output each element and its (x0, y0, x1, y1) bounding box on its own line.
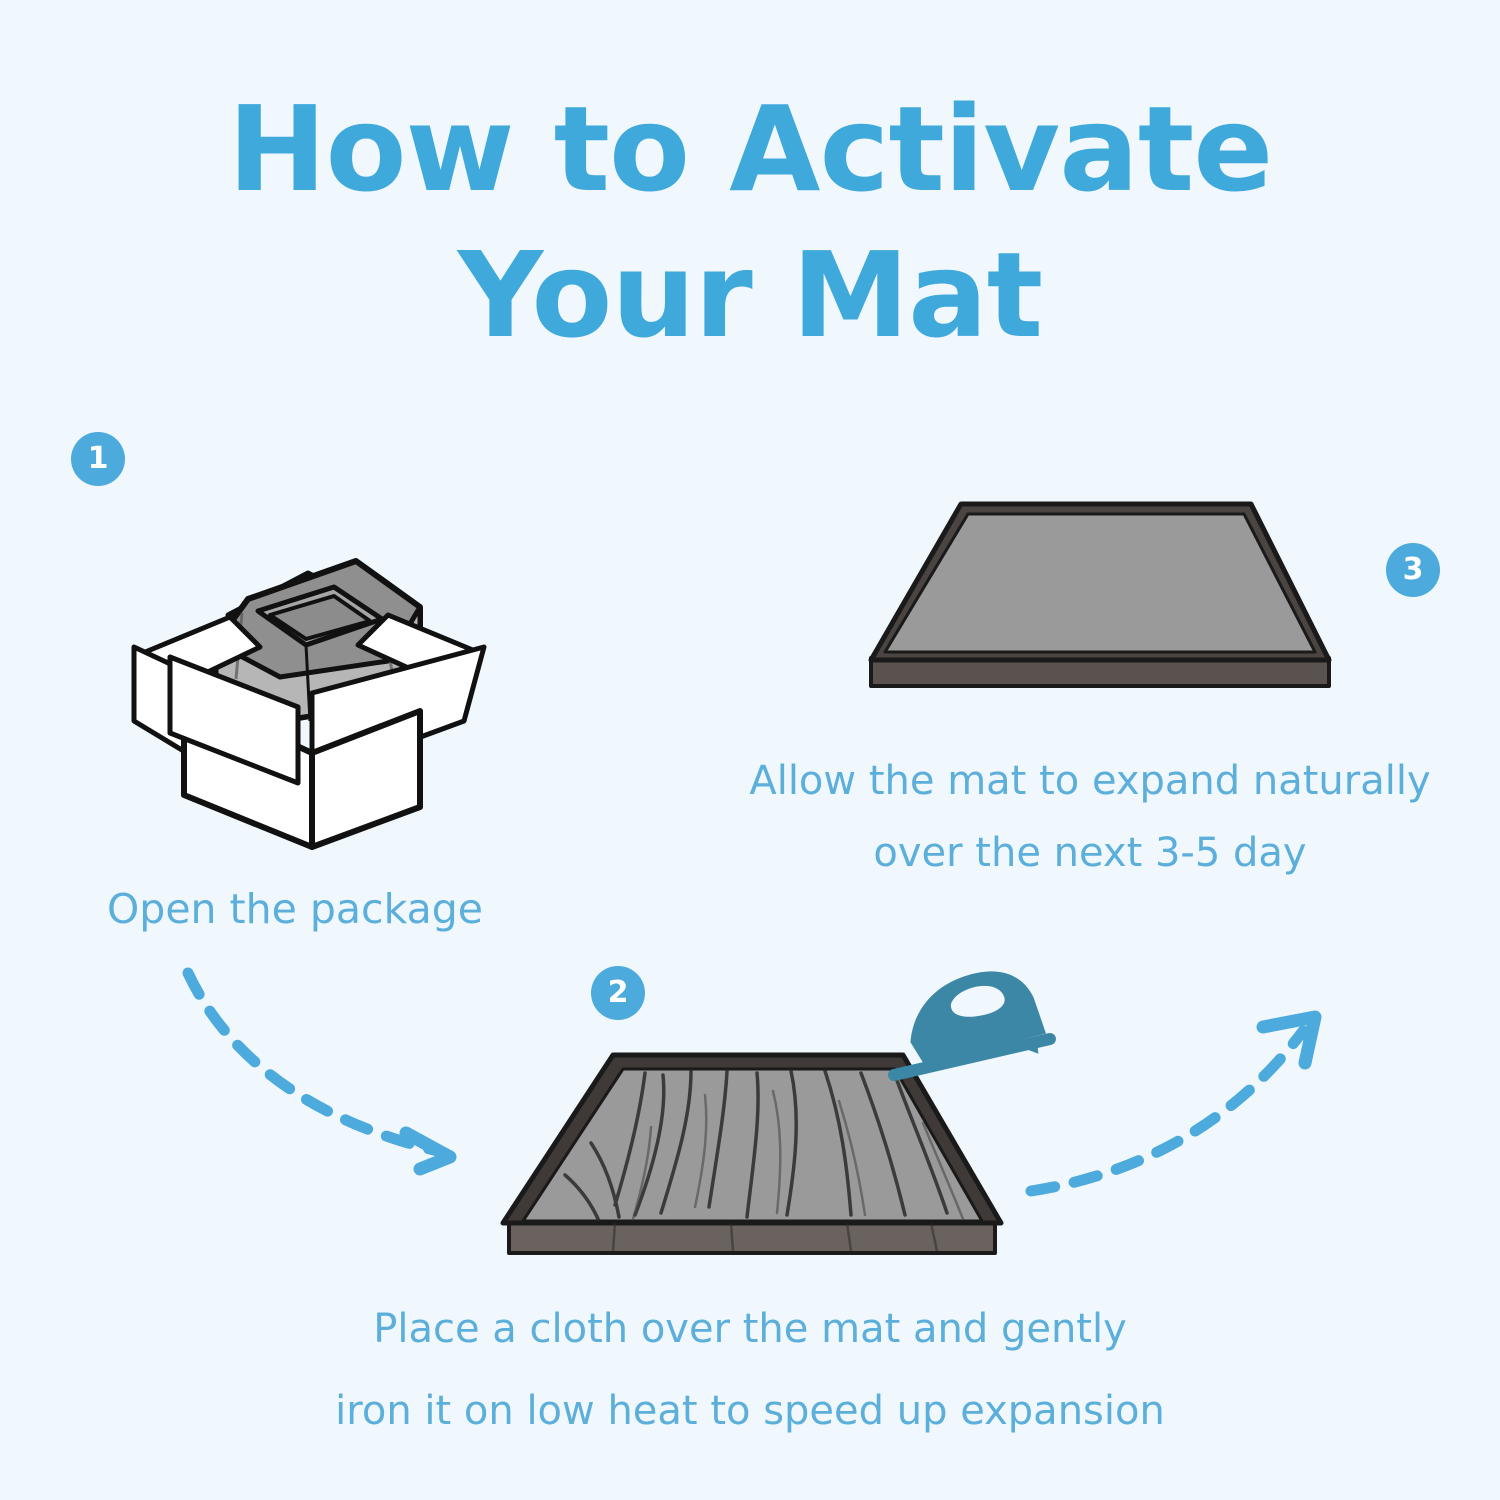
open-cardboard-box-icon (120, 495, 500, 855)
step-3-caption: Allow the mat to expand naturally over t… (690, 745, 1490, 889)
step-1-badge[interactable]: 1 (71, 432, 125, 486)
step-3-badge[interactable]: 3 (1386, 543, 1440, 597)
step-2-badge[interactable]: 2 (591, 966, 645, 1020)
arrow-step1-to-step2 (170, 955, 510, 1215)
infographic-poster: How to Activate Your Mat (0, 0, 1500, 1500)
page-title: How to Activate Your Mat (0, 76, 1500, 368)
arrow-step2-to-step3 (1015, 985, 1355, 1225)
page-title-line-2: Your Mat (0, 222, 1500, 368)
flat-mat-icon (865, 490, 1335, 700)
step-2-caption: Place a cloth over the mat and gently ir… (235, 1288, 1265, 1452)
page-title-line-1: How to Activate (228, 80, 1273, 218)
step-1-caption: Open the package (40, 882, 550, 937)
